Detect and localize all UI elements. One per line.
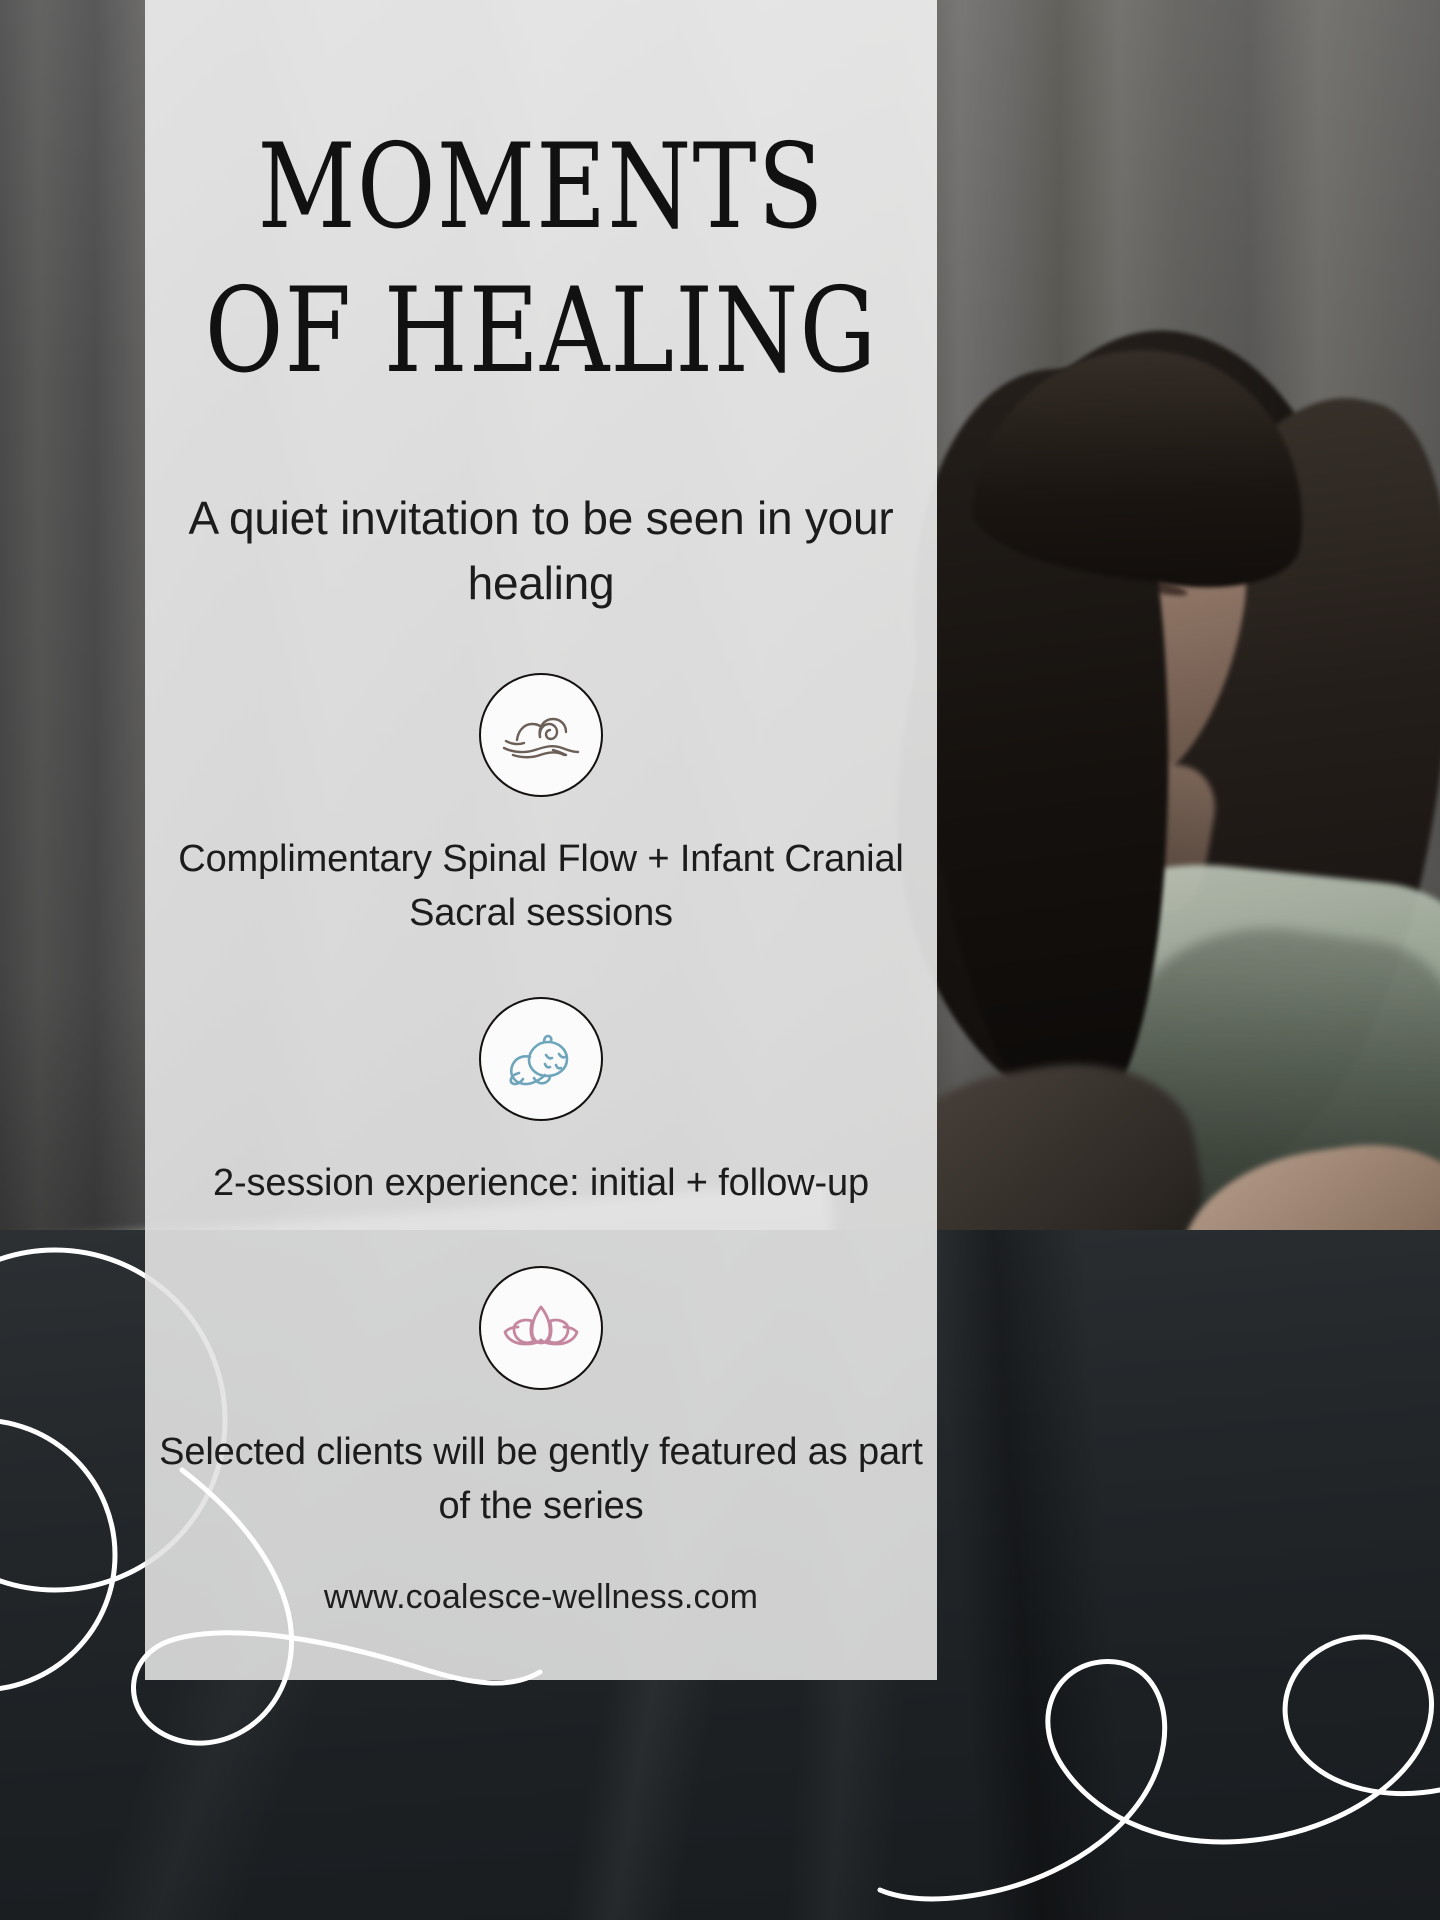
feature-block-1: Complimentary Spinal Flow + Infant Crani… [145,673,937,941]
feature-text-3: Selected clients will be gently featured… [145,1426,937,1534]
lotus-icon [479,1266,603,1390]
feature-text-1: Complimentary Spinal Flow + Infant Crani… [145,833,937,941]
feature-block-3: Selected clients will be gently featured… [145,1266,937,1534]
title-line-1: MOMENTS [145,128,937,245]
feature-block-2: 2-session experience: initial + follow-u… [145,997,937,1211]
sleeping-baby-icon [479,997,603,1121]
poster-root: MOMENTS OF HEALING A quiet invitation to… [0,0,1440,1920]
title-line-2: OF HEALING [145,272,937,389]
website-url[interactable]: www.coalesce-wellness.com [145,1578,937,1617]
subtitle: A quiet invitation to be seen in your he… [145,486,937,617]
page-title: MOMENTS OF HEALING [145,128,937,368]
content-panel: MOMENTS OF HEALING A quiet invitation to… [145,0,937,1680]
wave-icon [479,673,603,797]
feature-text-2: 2-session experience: initial + follow-u… [145,1157,937,1211]
